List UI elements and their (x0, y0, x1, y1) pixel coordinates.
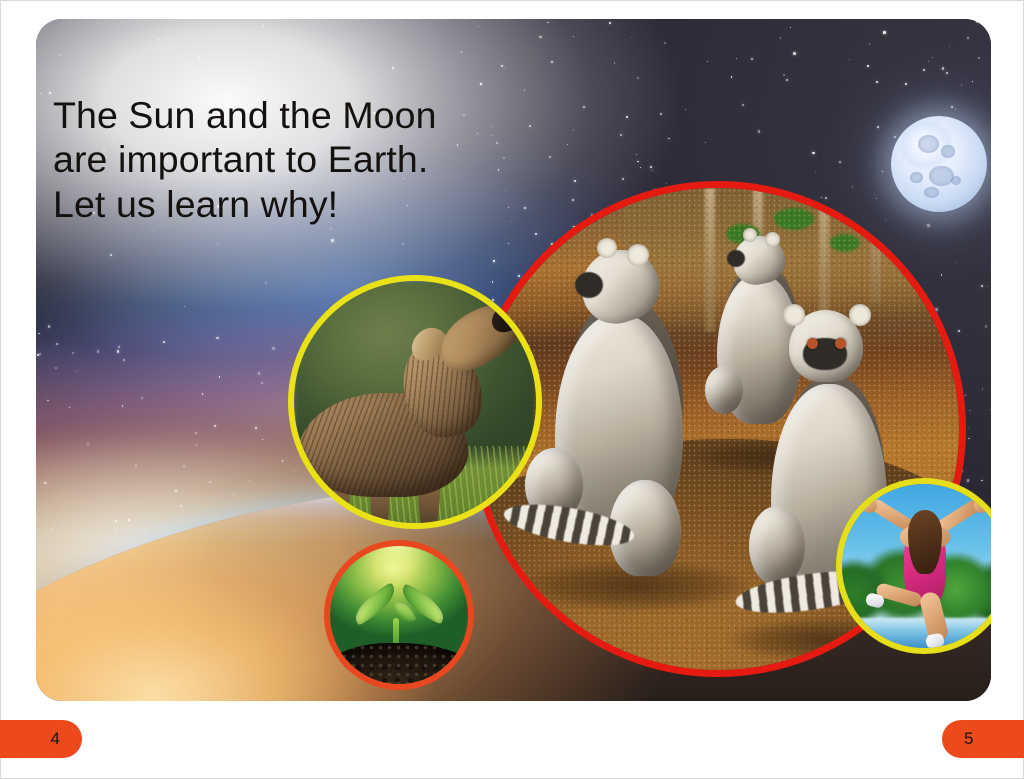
page-headline: The Sun and the Moon are important to Ea… (53, 93, 523, 226)
inset-coyote (288, 275, 542, 529)
girl-hair (908, 510, 942, 574)
jumping-girl-scene (842, 484, 991, 648)
inset-seedling (324, 540, 474, 690)
girl-hand-left (862, 498, 877, 513)
page-number-left: 4 (0, 720, 82, 758)
page-number-right: 5 (942, 720, 1024, 758)
girl-hand-right (974, 498, 989, 513)
book-spread: The Sun and the Moon are important to Ea… (0, 0, 1024, 779)
inset-jumping-girl (836, 478, 991, 654)
seedling-scene (330, 546, 468, 684)
coyote-scene (294, 281, 536, 523)
